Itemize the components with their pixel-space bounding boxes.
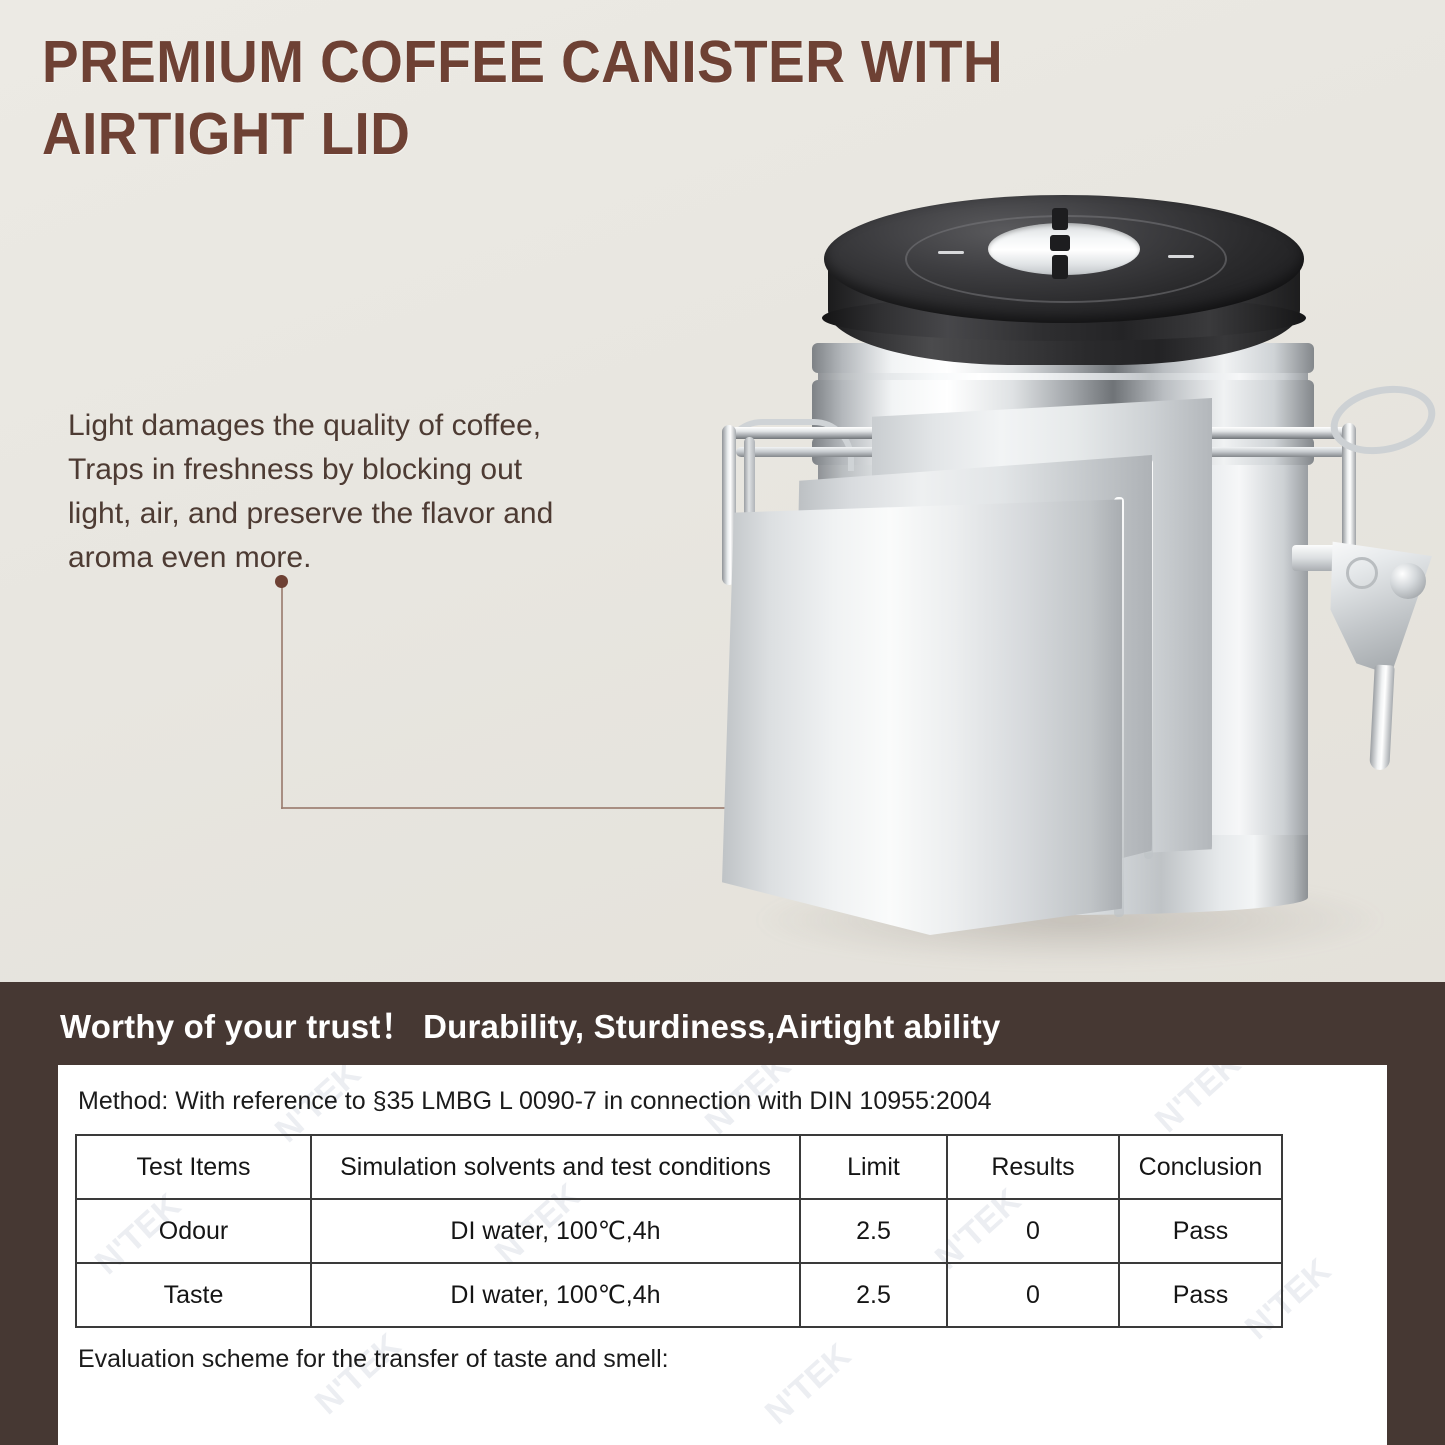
cell-conclusion: Pass [1119,1263,1282,1327]
right-latch-tail [1369,665,1394,771]
hero-section: PREMIUM COFFEE CANISTER WITH AIRTIGHT LI… [0,0,1445,982]
cell-test-item: Odour [76,1199,311,1263]
cell-test-item: Taste [76,1263,311,1327]
valve-nub-top [1052,208,1068,230]
callout-line-4: aroma even more. [68,536,628,580]
cell-conditions: DI water, 100℃,4h [311,1263,800,1327]
test-report-document: N'TEK N'TEK N'TEK N'TEK N'TEK N'TEK N'TE… [58,1065,1387,1445]
table-row: Taste DI water, 100℃,4h 2.5 0 Pass [76,1263,1282,1327]
evaluation-scheme-line: Evaluation scheme for the transfer of ta… [78,1345,669,1374]
column-header-conclusion: Conclusion [1119,1135,1282,1199]
test-method-line: Method: With reference to §35 LMBG L 009… [78,1087,992,1116]
right-latch-rivet [1390,563,1426,599]
page-title: PREMIUM COFFEE CANISTER WITH AIRTIGHT LI… [42,26,1158,170]
page-title-line-2: AIRTIGHT LID [42,98,1158,170]
watermark: N'TEK [758,1336,859,1432]
cell-conditions: DI water, 100℃,4h [311,1199,800,1263]
column-header-results: Results [947,1135,1119,1199]
cell-limit: 2.5 [800,1199,947,1263]
column-header-test-items: Test Items [76,1135,311,1199]
watermark: N'TEK [1148,1065,1249,1141]
lid-tick-mark-right [1168,255,1194,258]
callout-line-3: light, air, and preserve the flavor and [68,492,628,536]
callout-leader-dot-start [275,575,288,588]
product-infographic: PREMIUM COFFEE CANISTER WITH AIRTIGHT LI… [0,0,1445,1445]
trust-section-heading: Worthy of your trust！ Durability, Sturdi… [60,1000,1001,1048]
cell-results: 0 [947,1199,1119,1263]
cutaway-panel-front [722,495,1122,935]
coffee-canister-image [700,175,1440,965]
table-header-row: Test Items Simulation solvents and test … [76,1135,1282,1199]
valve-nub-bottom [1052,255,1068,279]
feature-callout-text: Light damages the quality of coffee, Tra… [68,404,628,580]
test-results-table: Test Items Simulation solvents and test … [75,1134,1283,1328]
callout-line-1: Light damages the quality of coffee, [68,404,628,448]
right-latch-lever [1324,530,1432,675]
page-title-line-1: PREMIUM COFFEE CANISTER WITH [42,26,1158,98]
callout-line-2: Traps in freshness by blocking out [68,448,628,492]
cell-limit: 2.5 [800,1263,947,1327]
lid-tick-mark-left [938,251,964,254]
table-row: Odour DI water, 100℃,4h 2.5 0 Pass [76,1199,1282,1263]
cell-results: 0 [947,1263,1119,1327]
callout-leader-line-vertical [281,585,283,809]
valve-nub-middle [1050,235,1070,251]
watermark: N'TEK [308,1326,409,1422]
right-latch-ring [1346,557,1378,589]
cell-conclusion: Pass [1119,1199,1282,1263]
column-header-limit: Limit [800,1135,947,1199]
column-header-conditions: Simulation solvents and test conditions [311,1135,800,1199]
